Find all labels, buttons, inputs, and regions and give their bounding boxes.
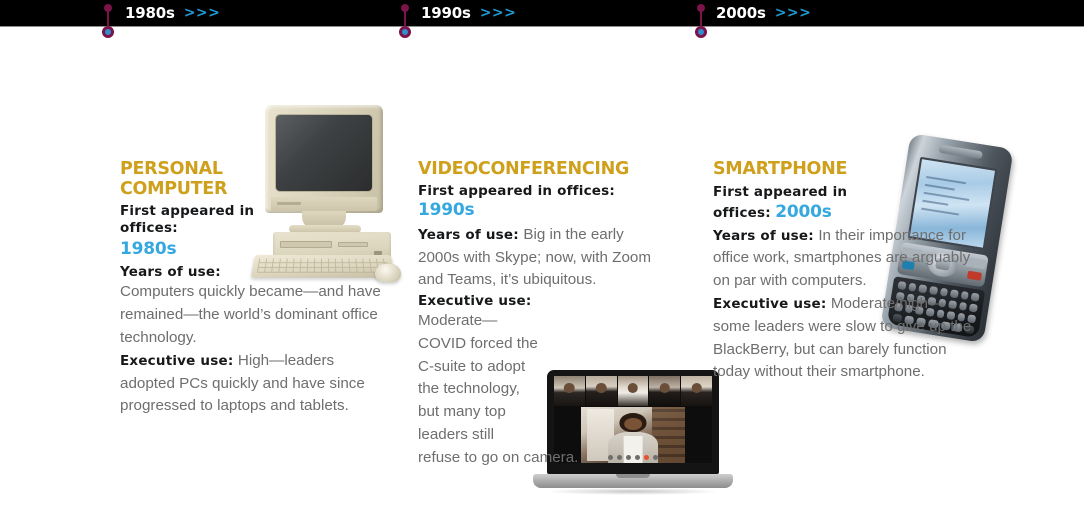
era-label: 1980s bbox=[125, 6, 175, 21]
laptop-notch bbox=[616, 474, 650, 478]
executive-use-field: Executive use: Moderate/high—some leader… bbox=[713, 293, 976, 384]
era-label: 1990s bbox=[421, 6, 471, 21]
column-videoconferencing: VIDEOCONFERENCING First appeared in offi… bbox=[418, 160, 663, 470]
first-appeared-label: First appeared in offices: bbox=[120, 203, 270, 239]
years-of-use-label: Years of use: bbox=[713, 228, 814, 244]
marker-ball-icon bbox=[695, 26, 707, 38]
timeline-era-1980s[interactable]: 1980s >>> bbox=[125, 0, 220, 26]
timeline-divider bbox=[0, 26, 1084, 27]
first-appeared-value: 1980s bbox=[120, 238, 386, 261]
first-appeared-field: First appeared in offices: 2000s bbox=[713, 183, 888, 223]
laptop-shadow bbox=[545, 488, 721, 495]
first-appeared-value: 2000s bbox=[775, 202, 831, 222]
timeline-marker-1980s[interactable] bbox=[101, 4, 115, 40]
executive-use-label: Executive use: bbox=[713, 296, 826, 312]
timeline-era-2000s[interactable]: 2000s >>> bbox=[716, 0, 811, 26]
participant-tile bbox=[681, 376, 712, 406]
laptop-text-wrap-spacer bbox=[538, 334, 663, 446]
marker-ball-icon bbox=[399, 26, 411, 38]
years-of-use-label: Years of use: bbox=[120, 264, 221, 280]
executive-use-field: Executive use: High—leaders adopted PCs … bbox=[120, 350, 386, 418]
first-appeared-field: First appeared in offices: 1980s bbox=[120, 203, 386, 262]
timeline-marker-2000s[interactable] bbox=[694, 4, 708, 40]
marker-ball-icon bbox=[102, 26, 114, 38]
chevrons-right-icon: >>> bbox=[480, 6, 517, 20]
column-title: PERSONAL COMPUTER bbox=[120, 160, 260, 200]
executive-use-label: Executive use: bbox=[418, 293, 531, 309]
column-personal-computer: PERSONAL COMPUTER First appeared in offi… bbox=[120, 160, 386, 418]
first-appeared-value: 1990s bbox=[418, 199, 663, 222]
chevrons-right-icon: >>> bbox=[184, 6, 221, 20]
years-of-use-field: Years of use: Computers quickly became—a… bbox=[120, 263, 386, 349]
years-of-use-field: Years of use: In their importance for of… bbox=[713, 225, 976, 293]
timeline-era-1990s[interactable]: 1990s >>> bbox=[421, 0, 516, 26]
first-appeared-label: First appeared in offices: bbox=[418, 183, 663, 199]
years-of-use-field: Years of use: Big in the early 2000s wit… bbox=[418, 224, 663, 292]
chevrons-right-icon: >>> bbox=[775, 6, 812, 20]
era-label: 2000s bbox=[716, 6, 766, 21]
executive-use-field: Executive use: Moderate—COVID forced the… bbox=[418, 292, 663, 470]
years-of-use-label: Years of use: bbox=[418, 227, 519, 243]
column-title: VIDEOCONFERENCING bbox=[418, 160, 663, 180]
first-appeared-field: First appeared in offices: 1990s bbox=[418, 183, 663, 222]
column-title: SMARTPHONE bbox=[713, 160, 976, 180]
executive-use-label: Executive use: bbox=[120, 353, 233, 369]
timeline-marker-1990s[interactable] bbox=[398, 4, 412, 40]
column-smartphone: SMARTPHONE First appeared in offices: 20… bbox=[713, 160, 976, 384]
years-of-use-text: Computers quickly became—and have remain… bbox=[120, 281, 386, 349]
